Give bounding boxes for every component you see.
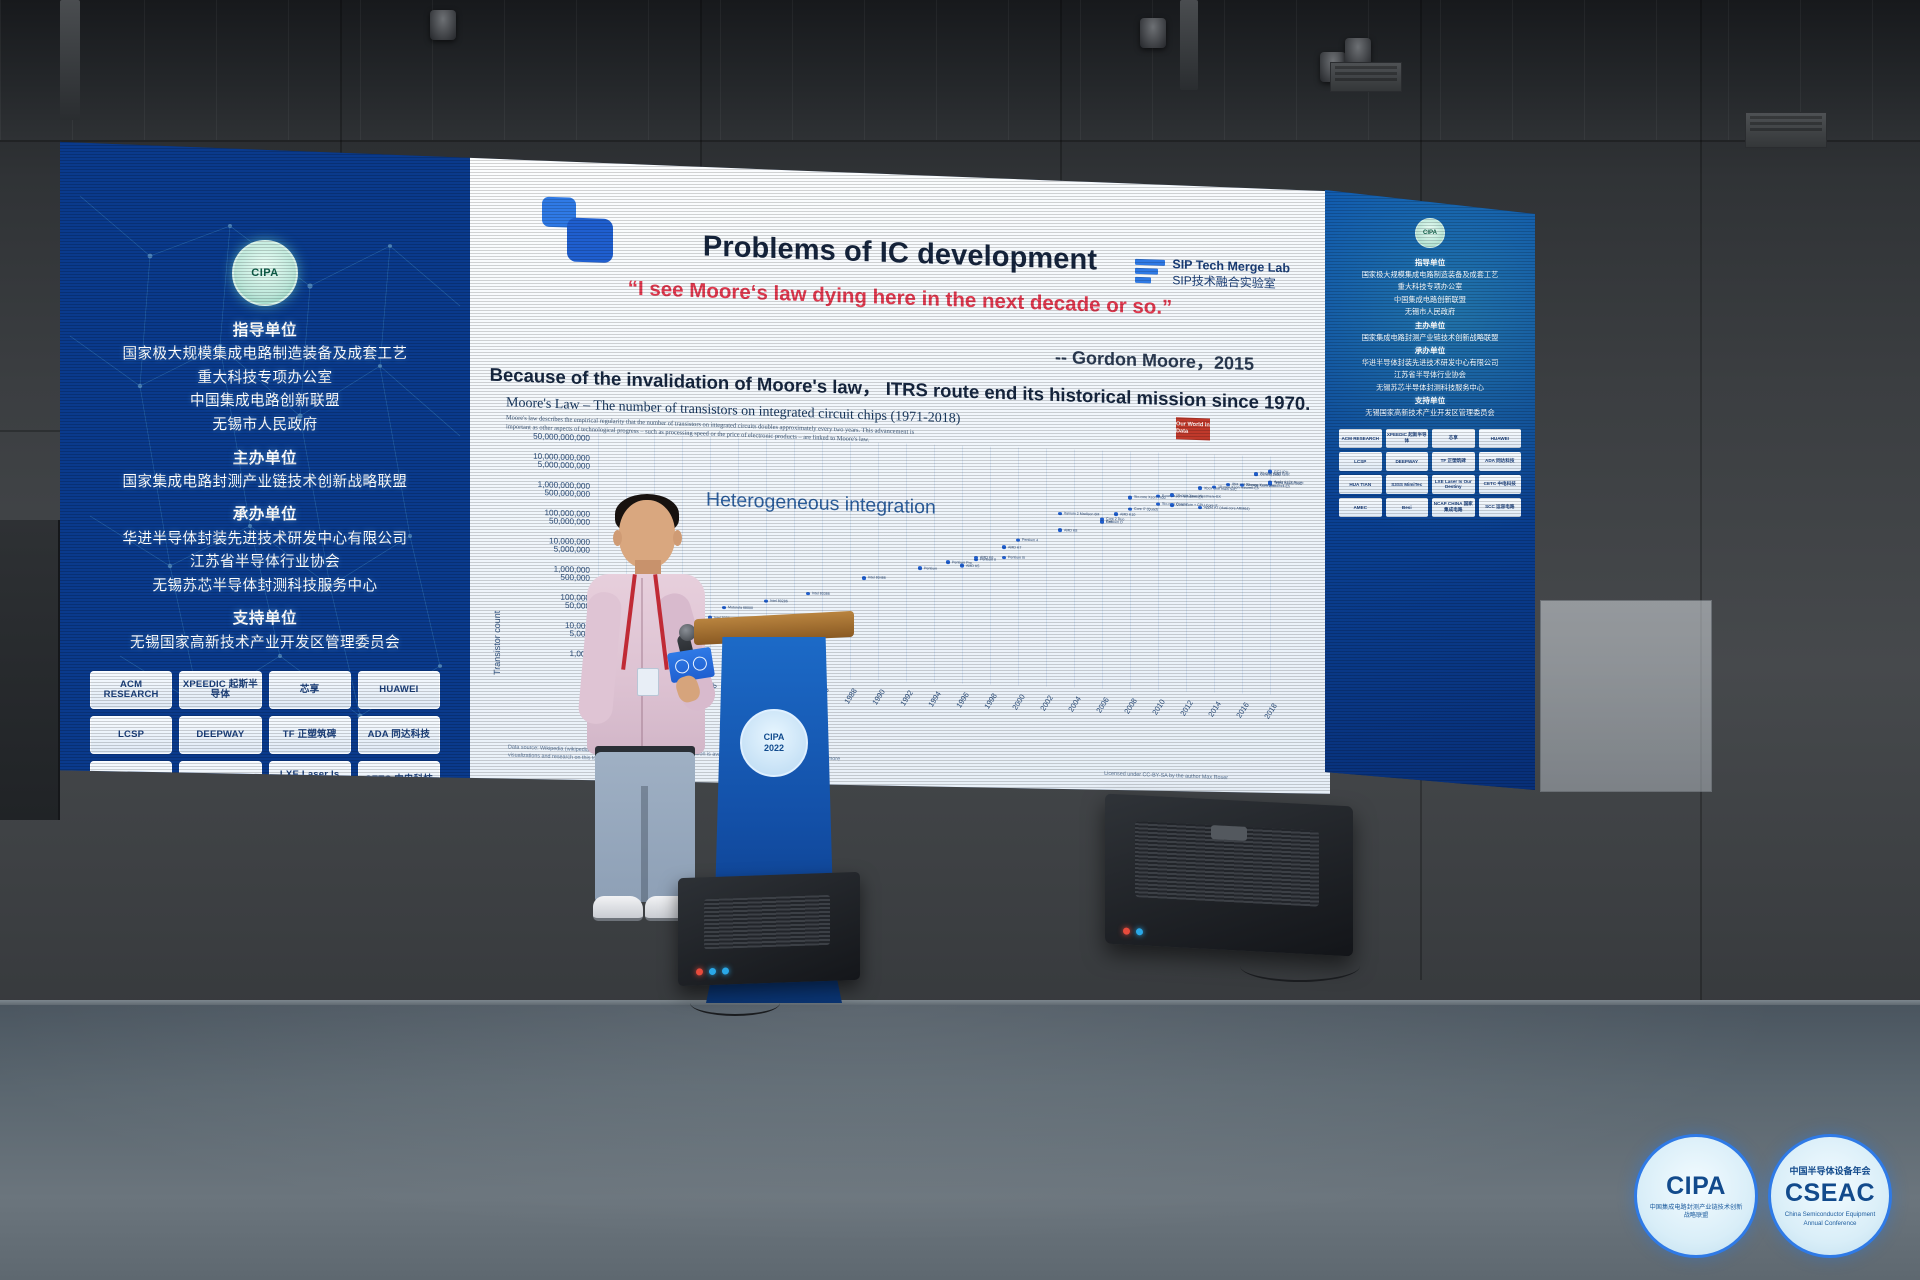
chart-xtick: 1998 <box>982 692 999 711</box>
presenter <box>585 500 705 920</box>
chart-xtick: 2018 <box>1262 702 1279 721</box>
chart-ytick: 50,000,000 <box>549 516 590 526</box>
side-door <box>0 520 60 820</box>
chart-gridline <box>1242 456 1243 694</box>
promo-section-line: 华进半导体封装先进技术研发中心有限公司 <box>1325 357 1535 369</box>
sponsor-logo: LCSP <box>90 716 172 754</box>
promo-section-line: 江苏省半导体行业协会 <box>1325 369 1535 381</box>
chart-data-point <box>764 599 767 603</box>
promo-section-line: 中国集成电路创新联盟 <box>60 390 470 414</box>
chart-data-point <box>1240 483 1243 487</box>
sponsor-logo: NCAP CHINA 国家集成电路 <box>1432 498 1475 517</box>
sponsor-logo: TF 正塑筑碑 <box>269 716 351 754</box>
chart-point-label: Apple A7 (dual-core ARM64) <box>1204 506 1250 512</box>
promo-section-head: 主办单位 <box>60 446 470 471</box>
podium-seal-line1: CIPA <box>764 732 785 743</box>
chart-xtick: 2010 <box>1150 698 1167 717</box>
chart-annotation: Heterogeneous integration <box>706 488 936 519</box>
sponsor-logo: ADA 同达科技 <box>1479 452 1522 471</box>
cseac-badge-subtitle: China Semiconductor Equipment Annual Con… <box>1771 1211 1889 1227</box>
ceiling-beam <box>1180 0 1198 90</box>
chart-point-label: Centriq 2400 <box>1260 472 1281 477</box>
chart-point-label: AMD K6 <box>980 555 993 559</box>
stage-monitor-right <box>1105 794 1353 957</box>
promo-panel: CIPA 指导单位 国家极大规模集成电路制造装备及成套工艺 重大科技专项办公室 … <box>60 136 470 794</box>
chart-data-point <box>806 592 809 596</box>
sponsor-logo: HUA TIAN <box>1339 475 1382 494</box>
ceiling-vent <box>1745 112 1827 148</box>
monitor-indicator-leds <box>696 967 729 975</box>
wall-seam <box>0 430 70 432</box>
chart-point-label: AMD K8 <box>1064 528 1077 532</box>
promo-section-line: 无锡国家高新技术产业开发区管理委员会 <box>60 632 470 656</box>
ceiling-vent <box>1330 62 1402 92</box>
chart-xtick: 2006 <box>1094 696 1111 715</box>
cseac-badge-cn: 中国半导体设备年会 <box>1789 1164 1870 1177</box>
promo-section-line: 无锡国家高新技术产业开发区管理委员会 <box>1325 407 1535 419</box>
chart-gridline <box>850 442 851 680</box>
floor-reflection <box>0 1005 1920 1280</box>
chart-ytick: 5,000,000,000 <box>538 460 590 471</box>
chart-gridline <box>906 444 907 682</box>
promo-section-line: 国家集成电路封测产业链技术创新战略联盟 <box>1325 332 1535 344</box>
chart-gridline <box>1074 450 1075 688</box>
stage-scene: CIPA 指导单位 国家极大规模集成电路制造装备及成套工艺 重大科技专项办公室 … <box>0 0 1920 1280</box>
podium-seal: CIPA 2022 <box>740 709 808 777</box>
promo-section-line: 中国集成电路创新联盟 <box>1325 294 1535 306</box>
promo-section-head: 指导单位 <box>1325 256 1535 269</box>
promo-section-line: 无锡市人民政府 <box>1325 306 1535 318</box>
chart-data-point <box>1058 512 1061 516</box>
chart-data-point <box>1268 482 1271 486</box>
chart-gridline <box>934 445 935 683</box>
chart-license-note: Licensed under CC-BY-SA by the author Ma… <box>1104 771 1228 781</box>
name-badge <box>637 668 659 696</box>
chart-point-label: Itanium 2 Madison 6M <box>1064 511 1099 516</box>
chart-xtick: 2000 <box>1010 693 1027 712</box>
chart-gridline <box>1186 454 1187 692</box>
wall-seam <box>0 140 1920 142</box>
sponsor-logo: LXE Laser Is Our Destiny <box>1432 475 1475 494</box>
trouser-gap <box>641 786 648 902</box>
sponsor-logo: LCSP <box>1339 452 1382 471</box>
monitor-indicator-leds <box>1123 927 1143 935</box>
secondary-promo-panel: CIPA 指导单位 国家极大规模集成电路制造装备及成套工艺 重大科技专项办公室 … <box>1325 190 1535 790</box>
promo-section-line: 无锡苏芯半导体封测科技服务中心 <box>60 575 470 599</box>
chart-gridline <box>1270 457 1271 695</box>
monitor-speaker-grille <box>704 895 830 949</box>
podium-seal-line2: 2022 <box>764 743 784 754</box>
sponsor-logo: S3SS MimiTec <box>1386 475 1429 494</box>
chart-data-point <box>1002 546 1005 550</box>
chart-point-label: Pentium III <box>1008 555 1025 560</box>
chart-data-point <box>960 564 963 568</box>
sponsor-logo: AMEC <box>1339 498 1382 517</box>
promo-content: CIPA 指导单位 国家极大规模集成电路制造装备及成套工艺 重大科技专项办公室 … <box>60 136 470 794</box>
monitor-handle <box>1211 825 1247 841</box>
spotlight <box>1140 18 1166 48</box>
sponsor-logo: HUAWEI <box>1479 429 1522 448</box>
promo-section-line: 无锡苏芯半导体封测科技服务中心 <box>1325 382 1535 394</box>
chart-xtick: 2004 <box>1066 695 1083 714</box>
chart-data-point <box>1100 520 1103 524</box>
promo-section-head: 主办单位 <box>1325 319 1535 332</box>
stage-cable <box>1240 950 1360 982</box>
presenter-ear <box>613 530 622 546</box>
sponsor-logo: DEEPWAY <box>1386 452 1429 471</box>
chart-gridline <box>1130 452 1131 690</box>
promo-section-head: 支持单位 <box>1325 394 1535 407</box>
promo-section-line: 国家集成电路封测产业链技术创新战略联盟 <box>60 471 470 495</box>
chart-data-point <box>1002 556 1005 560</box>
chart-data-point <box>1016 538 1019 542</box>
chart-gridline <box>990 447 991 685</box>
secondary-led-screen: CIPA 指导单位 国家极大规模集成电路制造装备及成套工艺 重大科技专项办公室 … <box>1325 190 1535 790</box>
promo-section-line: 华进半导体封装先进技术研发中心有限公司 <box>60 528 470 552</box>
cipa-event-badge: CIPA 中国集成电路封测产业链技术创新战略联盟 <box>1634 1134 1758 1258</box>
chart-gridline <box>1102 451 1103 689</box>
sponsor-logo: XPEEDIC 起斯半导体 <box>179 671 261 709</box>
chart-xtick: 2008 <box>1122 697 1139 716</box>
spotlight <box>430 10 456 40</box>
presenter-ear <box>673 530 682 546</box>
presenter-head <box>619 500 675 568</box>
chart-data-point <box>1156 503 1159 507</box>
chart-data-point <box>1170 493 1173 497</box>
promo-section-line: 国家极大规模集成电路制造装备及成套工艺 <box>60 343 470 367</box>
promo-section-head: 承办单位 <box>60 502 470 527</box>
sponsor-logo: Besi <box>1386 498 1429 517</box>
ceiling-grid <box>0 0 1920 140</box>
promo-section-line: 重大科技专项办公室 <box>60 367 470 391</box>
sponsor-logo: ACM RESEARCH <box>90 671 172 709</box>
slide-attribution: -- Gordon Moore，2015 <box>1055 343 1254 376</box>
sponsor-logo: TF 正塑筑碑 <box>1432 452 1475 471</box>
sponsor-logo-grid-small: ACM RESEARCH XPEEDIC 起斯半导体 芯享 HUAWEI LCS… <box>1325 420 1535 517</box>
sponsor-logo: CETC 中电科技 <box>1479 475 1522 494</box>
chart-data-point <box>722 606 725 610</box>
chart-point-label: AMD K7 <box>1008 545 1021 549</box>
side-panel <box>1540 600 1712 792</box>
event-badges: CIPA 中国集成电路封测产业链技术创新战略联盟 中国半导体设备年会 CSEAC… <box>1634 1134 1892 1258</box>
chart-point-label: AMD K5 <box>966 563 979 567</box>
wall-seam <box>1700 0 1702 1000</box>
cseac-event-badge: 中国半导体设备年会 CSEAC China Semiconductor Equi… <box>1768 1134 1892 1258</box>
chart-xtick: 1996 <box>954 691 971 710</box>
chart-data-point <box>1198 506 1201 510</box>
cipa-badge: CIPA <box>232 240 298 306</box>
chart-xtick: 2016 <box>1234 701 1251 720</box>
chart-point-label: Core i7 (Quad) <box>1134 507 1158 512</box>
cseac-badge-title: CSEAC <box>1785 1179 1875 1208</box>
sponsor-logo: SCC 运容电路 <box>1479 498 1522 517</box>
chart-ytick: 50,000,000,000 <box>533 432 590 443</box>
chart-data-point <box>1254 473 1257 477</box>
chart-data-point <box>1170 503 1173 507</box>
chart-data-point <box>1058 528 1061 532</box>
promo-section-line: 国家极大规模集成电路制造装备及成套工艺 <box>1325 269 1535 281</box>
presenter-shoe <box>593 896 643 921</box>
chart-gridline <box>878 443 879 681</box>
sponsor-logo: ADA 同达科技 <box>358 716 440 754</box>
chart-xtick: 2002 <box>1038 694 1055 713</box>
chart-gridline <box>1046 449 1047 687</box>
stage-cable <box>690 990 780 1016</box>
chart-point-label: AMD K10 <box>1120 512 1135 517</box>
promo-section-head: 承办单位 <box>1325 344 1535 357</box>
chart-point-label: Pentium <box>924 566 937 570</box>
promo-section-line: 江苏省半导体行业协会 <box>60 551 470 575</box>
sponsor-logo: ACM RESEARCH <box>1339 429 1382 448</box>
promo-section-line: 无锡市人民政府 <box>60 414 470 438</box>
chart-xtick: 1992 <box>898 689 915 708</box>
chart-data-point <box>918 566 921 570</box>
promo-section-line: 重大科技专项办公室 <box>1325 281 1535 293</box>
chart-gridline <box>1158 453 1159 691</box>
chart-point-label: Intel 80286 <box>770 599 788 604</box>
sponsor-logo: DEEPWAY <box>179 716 261 754</box>
chart-point-label: Motorola 68000 <box>728 605 753 610</box>
chart-point-label: Intel 80386 <box>812 591 830 596</box>
chart-xtick: 2012 <box>1178 699 1195 718</box>
cipa-badge-title: CIPA <box>1666 1172 1726 1201</box>
promo-section-head: 指导单位 <box>60 318 470 343</box>
chart-data-point <box>974 556 977 560</box>
chart-point-label: Pentium D <box>1106 520 1123 525</box>
chart-xtick: 2014 <box>1206 700 1223 719</box>
chart-point-label: Six-core Xeon 7400 <box>1134 495 1166 500</box>
chart-data-point <box>1156 494 1159 498</box>
cipa-badge-small: CIPA <box>1415 218 1445 248</box>
chart-gridline <box>1018 448 1019 686</box>
chart-data-point <box>1128 496 1131 500</box>
chart-data-point <box>862 576 865 580</box>
chart-point-label: Pentium 4 <box>1022 538 1038 543</box>
our-world-in-data-badge: Our World in Data <box>1176 417 1210 440</box>
chart-xtick: 1990 <box>870 688 887 707</box>
sponsor-logo: XPEEDIC 起斯半导体 <box>1386 429 1429 448</box>
chart-ytick: 500,000,000 <box>544 488 590 499</box>
chart-point-label: Intel 80486 <box>868 576 886 581</box>
sponsor-logo: 芯享 <box>1432 429 1475 448</box>
cipa-badge-subtitle: 中国集成电路封测产业链技术创新战略联盟 <box>1637 1204 1755 1220</box>
chart-data-point <box>1114 512 1117 516</box>
shirt-placket <box>641 578 643 750</box>
stage-monitor-left <box>678 872 860 986</box>
chart-data-point <box>1128 507 1131 511</box>
chart-data-point <box>1198 486 1201 490</box>
ceiling-beam <box>60 0 80 120</box>
chart-ylabel: Transistor count <box>492 611 502 676</box>
chart-xtick: 1994 <box>926 690 943 709</box>
sponsor-logo: 芯享 <box>269 671 351 709</box>
chart-data-point <box>946 560 949 564</box>
sponsor-logo: HUAWEI <box>358 671 440 709</box>
promo-section-head: 支持单位 <box>60 606 470 631</box>
